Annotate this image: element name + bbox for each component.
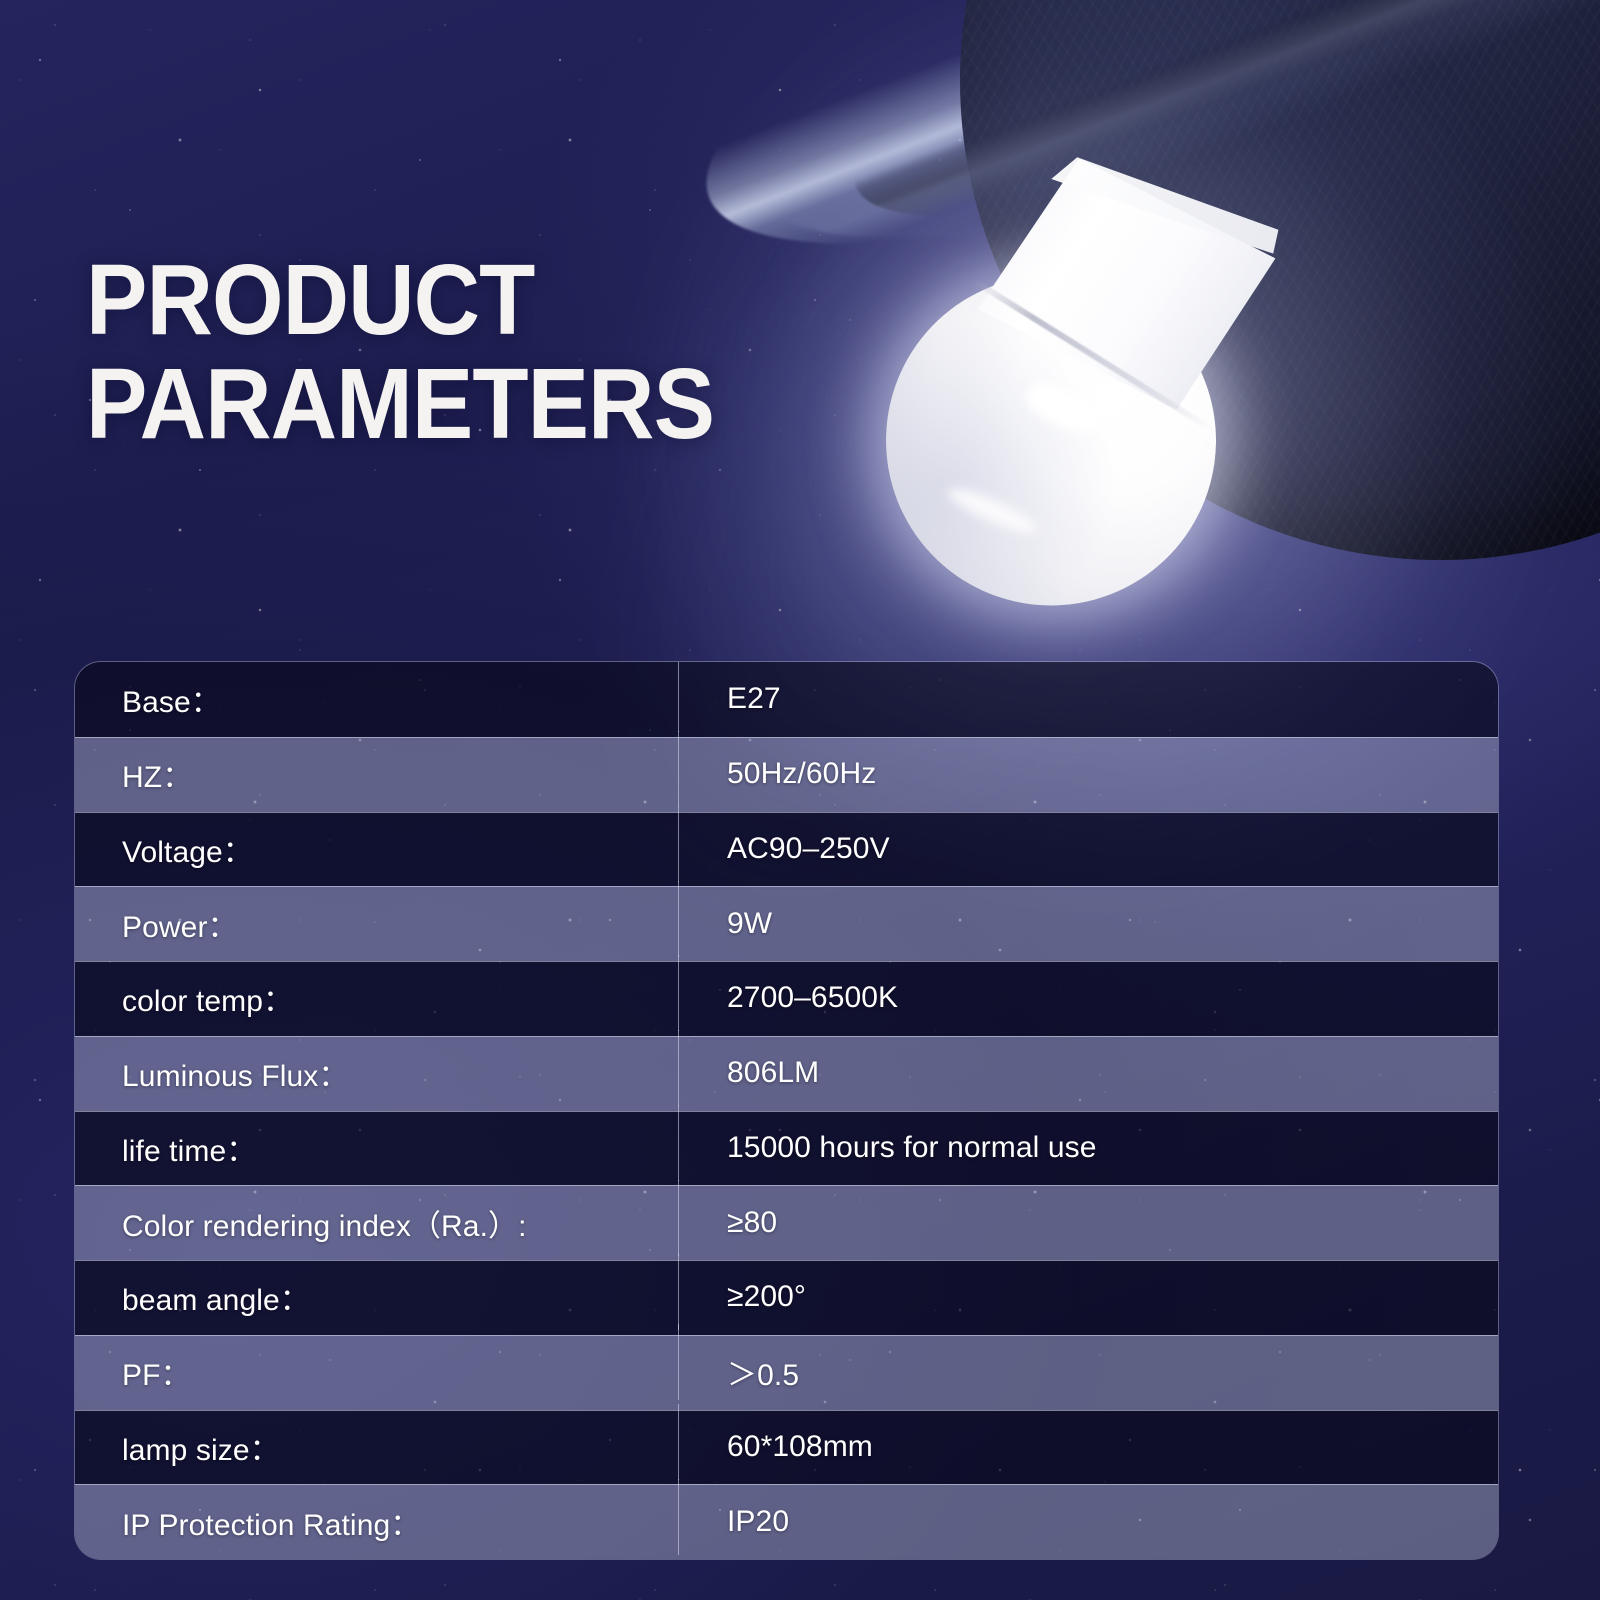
page-title-line-2: PARAMETERS — [86, 352, 714, 456]
bulb-globe-icon — [833, 223, 1269, 659]
planet-body-icon — [960, 0, 1600, 560]
bulb-shading — [833, 223, 1269, 659]
specification-table: Base：E27HZ：50Hz/60HzVoltage：AC90–250VPow… — [75, 662, 1498, 1559]
spec-value-cell: 806LM — [678, 1056, 1498, 1090]
planet-ring-front-icon — [705, 0, 1600, 343]
spec-key-cell: Base： — [75, 677, 678, 721]
spec-key-cell: Voltage： — [75, 827, 678, 871]
table-row: Color rendering index（Ra.）:≥80 — [75, 1185, 1498, 1260]
spec-value-cell: 60*108mm — [678, 1430, 1498, 1464]
planet-ring-shadow — [816, 0, 1600, 305]
table-row: PF：＞0.5 — [75, 1335, 1498, 1410]
table-row: Power：9W — [75, 886, 1498, 961]
spec-value-cell: 50Hz/60Hz — [678, 757, 1498, 791]
spec-value-cell: IP20 — [678, 1505, 1498, 1539]
bulb-cap-icon — [1038, 131, 1283, 274]
table-row: life time：15000 hours for normal use — [75, 1111, 1498, 1186]
spec-value-cell: ＞0.5 — [678, 1350, 1498, 1394]
spec-value-cell: AC90–250V — [678, 832, 1498, 866]
poster-canvas: PRODUCT PARAMETERS Base：E27HZ：50Hz/60HzV… — [0, 0, 1600, 1600]
bulb-neck-icon — [963, 141, 1280, 421]
table-row: Voltage：AC90–250V — [75, 812, 1498, 887]
bulb-highlight-primary — [1020, 375, 1106, 440]
spec-value-cell: ≥80 — [678, 1206, 1498, 1240]
bulb-seam-line — [971, 278, 1213, 433]
table-row: HZ：50Hz/60Hz — [75, 737, 1498, 812]
table-row: IP Protection Rating：IP20 — [75, 1484, 1498, 1559]
spec-key-cell: Luminous Flux： — [75, 1051, 678, 1095]
spec-key-cell: color temp： — [75, 976, 678, 1020]
spec-value-cell: 15000 hours for normal use — [678, 1131, 1498, 1165]
spec-value-cell: 9W — [678, 907, 1498, 941]
table-row: Base：E27 — [75, 662, 1498, 737]
table-row: color temp：2700–6500K — [75, 961, 1498, 1036]
table-row: lamp size：60*108mm — [75, 1410, 1498, 1485]
bulb-highlight-secondary — [944, 481, 1041, 540]
spec-key-cell: beam angle： — [75, 1275, 678, 1319]
spec-key-cell: HZ： — [75, 752, 678, 796]
page-title: PRODUCT PARAMETERS — [86, 248, 714, 456]
spec-key-cell: life time： — [75, 1126, 678, 1170]
spec-value-cell: 2700–6500K — [678, 981, 1498, 1015]
planet-ring-back-icon — [655, 0, 1600, 352]
spec-value-cell: ≥200° — [678, 1280, 1498, 1314]
ringed-planet-graphic — [780, 0, 1600, 700]
page-title-line-1: PRODUCT — [86, 248, 714, 352]
spec-key-cell: lamp size： — [75, 1425, 678, 1469]
spec-key-cell: Power： — [75, 902, 678, 946]
spec-key-cell: PF： — [75, 1350, 678, 1394]
planet-texture — [960, 0, 1600, 560]
spec-value-cell: E27 — [678, 682, 1498, 716]
spec-key-cell: Color rendering index（Ra.）: — [75, 1201, 678, 1245]
spec-key-cell: IP Protection Rating： — [75, 1500, 678, 1544]
table-row: Luminous Flux：806LM — [75, 1036, 1498, 1111]
table-row: beam angle：≥200° — [75, 1260, 1498, 1335]
led-bulb-graphic — [799, 76, 1432, 724]
